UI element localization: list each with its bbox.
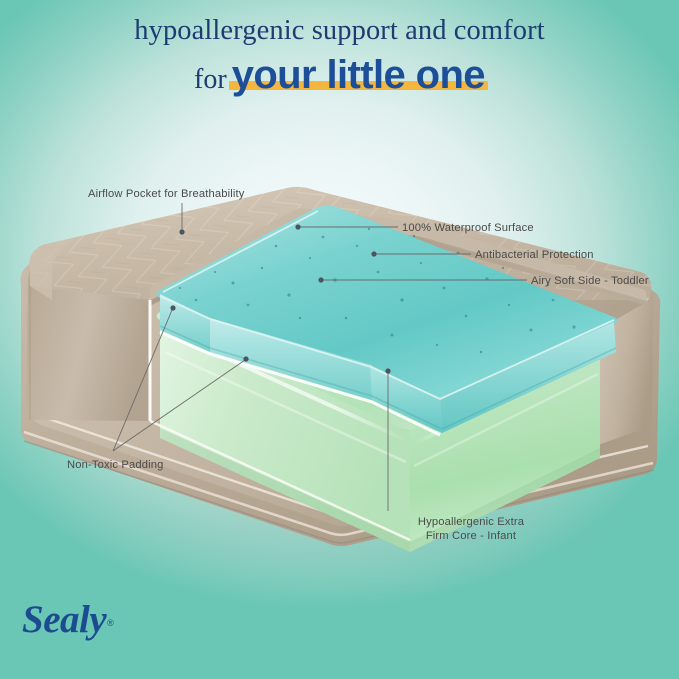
mattress-cutaway-illustration: [0, 0, 679, 679]
leader-dot-waterproof: [295, 224, 300, 229]
leader-dot-airflow: [179, 229, 184, 234]
callout-core-line-1: Hypoallergenic Extra: [418, 516, 524, 528]
leader-dot-airy: [318, 277, 323, 282]
infographic-canvas: hypoallergenic support and comfort foryo…: [0, 0, 679, 679]
leader-dot-antibacterial: [371, 251, 376, 256]
sealy-wordmark: Sealy: [22, 598, 106, 641]
callout-label-hypoallergenic-core: Hypoallergenic Extra Firm Core - Infant: [396, 515, 546, 544]
leader-dot-nontoxic-b: [243, 356, 248, 361]
callout-label-antibacterial-protection: Antibacterial Protection: [475, 248, 594, 262]
sealy-logo: Sealy®: [22, 600, 152, 648]
callout-label-non-toxic-padding: Non-Toxic Padding: [67, 458, 163, 472]
callout-label-airy-soft-side: Airy Soft Side - Toddler: [531, 274, 649, 288]
callout-core-line-2: Firm Core - Infant: [426, 530, 516, 542]
callout-label-waterproof-surface: 100% Waterproof Surface: [402, 221, 534, 235]
leader-dot-core: [385, 368, 390, 373]
callout-label-airflow-pocket: Airflow Pocket for Breathability: [88, 187, 245, 201]
leader-dot-nontoxic-a: [170, 305, 175, 310]
registered-trademark-icon: ®: [107, 618, 114, 628]
